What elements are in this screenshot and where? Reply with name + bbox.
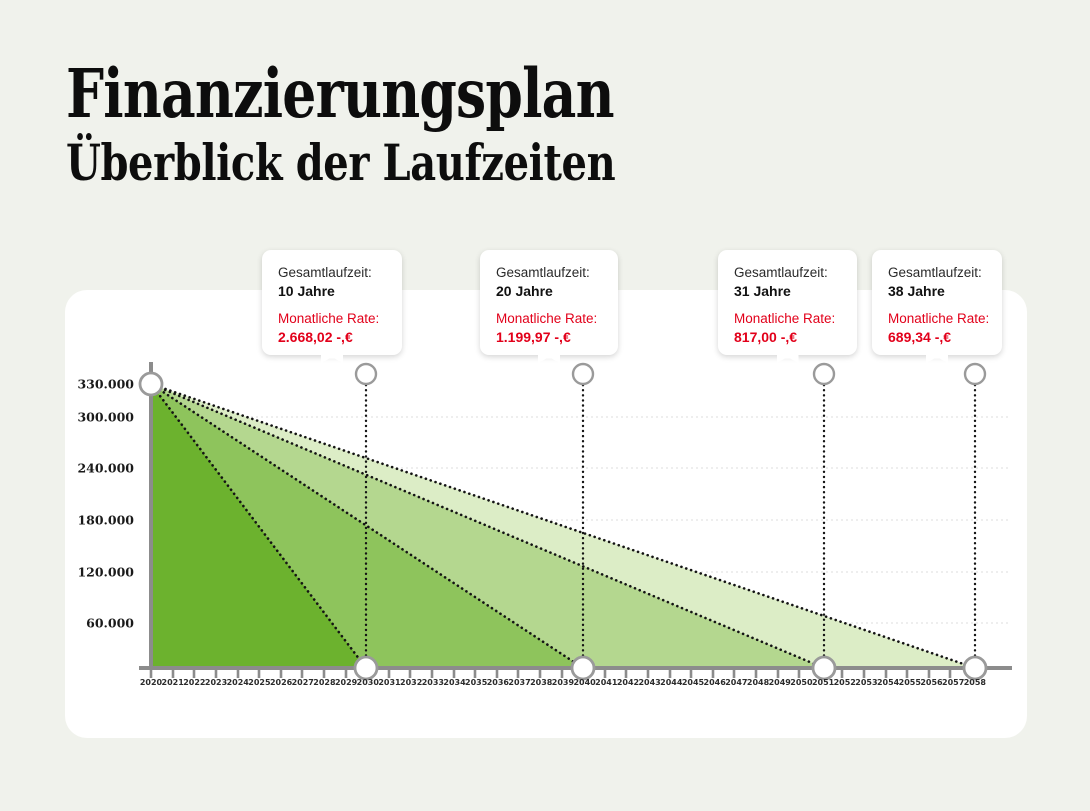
callout-term-value: 38 Jahre: [888, 282, 986, 301]
callout-term-value: 31 Jahre: [734, 282, 841, 301]
callout-term-label: Gesamtlaufzeit:: [734, 264, 841, 282]
callout-rate-label: Monatliche Rate:: [734, 310, 841, 328]
callout-card-20-jahre[interactable]: Gesamtlaufzeit: 20 Jahre Monatliche Rate…: [480, 250, 618, 355]
callout-card-31-jahre[interactable]: Gesamtlaufzeit: 31 Jahre Monatliche Rate…: [718, 250, 857, 355]
y-axis-label-60000: 60.000: [62, 616, 134, 631]
y-axis-label-300000: 300.000: [62, 410, 134, 425]
callout-rate-value: 817,00 -,€: [734, 328, 841, 347]
callout-rate-label: Monatliche Rate:: [888, 310, 986, 328]
callout-term-value: 20 Jahre: [496, 282, 602, 301]
callout-term-value: 10 Jahre: [278, 282, 386, 301]
callout-rate-value: 1.199,97 -,€: [496, 328, 602, 347]
y-axis-label-330000: 330.000: [62, 377, 134, 392]
callout-term-label: Gesamtlaufzeit:: [278, 264, 386, 282]
callout-rate-label: Monatliche Rate:: [278, 310, 386, 328]
y-axis-label-240000: 240.000: [62, 461, 134, 476]
y-axis-label-120000: 120.000: [62, 565, 134, 580]
callout-rate-value: 689,34 -,€: [888, 328, 986, 347]
y-axis-label-180000: 180.000: [62, 513, 134, 528]
page-title: Finanzierungsplan Überblick der Laufzeit…: [66, 62, 966, 192]
callout-card-38-jahre[interactable]: Gesamtlaufzeit: 38 Jahre Monatliche Rate…: [872, 250, 1002, 355]
callout-term-label: Gesamtlaufzeit:: [496, 264, 602, 282]
main-title: Finanzierungsplan: [66, 62, 786, 126]
callout-rate-value: 2.668,02 -,€: [278, 328, 386, 347]
x-axis-label-2058: 2058: [962, 678, 988, 687]
callout-rate-label: Monatliche Rate:: [496, 310, 602, 328]
sub-title: Überblick der Laufzeiten: [66, 134, 786, 192]
callout-card-10-jahre[interactable]: Gesamtlaufzeit: 10 Jahre Monatliche Rate…: [262, 250, 402, 355]
callout-term-label: Gesamtlaufzeit:: [888, 264, 986, 282]
